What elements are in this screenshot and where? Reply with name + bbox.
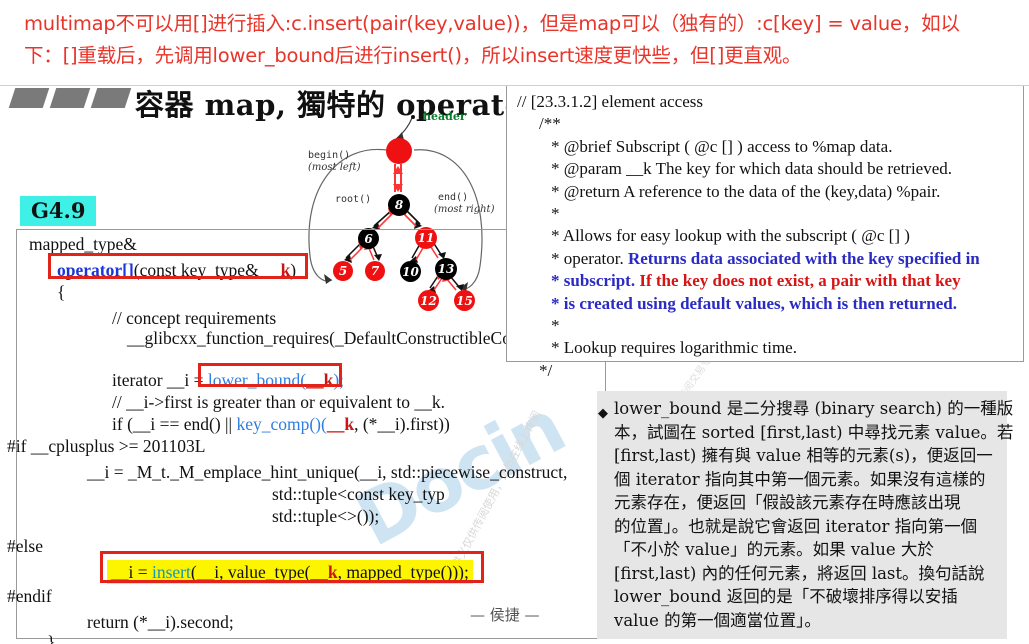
code-directive-if: #if __cplusplus >= 201103L — [7, 436, 205, 456]
tree-label-end: end() — [438, 192, 468, 203]
code-line-mapped-type: mapped_type& — [29, 234, 137, 254]
note-line-5: 元素存在，便返回「假設該元素存在時應該出現 — [614, 491, 999, 515]
highlight-box-operator — [48, 253, 308, 279]
code-brace-close: } — [47, 632, 55, 644]
doc-line-2: /** — [517, 113, 1017, 135]
code-comment-concept: // concept requirements — [112, 308, 276, 328]
annotation-line-2: 下：[]重载后，先调用lower_bound后进行insert()，所以inse… — [24, 40, 1011, 72]
doc-line-blank-1: * — [517, 203, 1017, 225]
doc-line-brief: * @brief Subscript ( @c [] ) access to %… — [517, 136, 1017, 158]
doc-line-end: */ — [517, 360, 1017, 382]
code-glibcxx-requires: __glibcxx_function_requires(_DefaultCons… — [127, 328, 520, 348]
code-tuple-2: std::tuple<>()); — [272, 506, 379, 526]
code-tuple-1: std::tuple<const key_typ — [272, 484, 445, 504]
annotation-banner: multimap不可以用[]进行插入:c.insert(pair(key,val… — [0, 0, 1029, 86]
code-emplace-hint: __i = _M_t._M_emplace_hint_unique(__i, s… — [87, 462, 567, 482]
doc-line-return: * @return A reference to the data of the… — [517, 181, 1017, 203]
note-line-2: 本，試圖在 sorted [first,last) 中尋找元素 value。若 — [614, 421, 999, 445]
note-line-3: [first,last) 擁有與 value 相等的元素(s)，便返回一 — [614, 444, 999, 468]
code-directive-else: #else — [7, 536, 43, 556]
tree-label-begin: begin() — [308, 150, 350, 161]
code-comment-first: // __i->first is greater than or equival… — [112, 392, 445, 412]
if-tail: , (*__i).first)) — [354, 414, 450, 434]
doc-line-allows: * Allows for easy lookup with the subscr… — [517, 225, 1017, 247]
tree-label-begin-sub: (most left) — [308, 162, 360, 173]
tree-label-root: root() — [335, 194, 371, 205]
code-brace-open: { — [57, 282, 65, 302]
decorative-bars — [12, 88, 128, 108]
doxygen-comment-panel: // [23.3.1.2] element access /** * @brie… — [506, 86, 1024, 362]
note-line-7: 「不小於 value」的元素。如果 value 大於 — [614, 538, 999, 562]
doc-line-operator: * operator. Returns data associated with… — [517, 248, 1017, 270]
if-prefix: if (__i == end() || — [112, 414, 236, 434]
tree-label-header: header — [423, 110, 466, 123]
code-return: return (*__i).second; — [87, 612, 234, 632]
doc-operator-highlight: Returns data associated with the key spe… — [628, 249, 980, 268]
code-line-if: if (__i == end() || key_comp()(__k, (*__… — [112, 414, 450, 434]
annotation-line-1: multimap不可以用[]进行插入:c.insert(pair(key,val… — [24, 8, 1011, 40]
doc-line-blank-2: * — [517, 315, 1017, 337]
iterator-decl: iterator __i = — [112, 370, 208, 390]
tree-node-header — [386, 138, 412, 164]
tree-label-end-sub: (most right) — [434, 204, 494, 215]
highlight-box-insert — [100, 551, 484, 583]
bullet-icon: ◆ — [598, 402, 608, 426]
note-line-8: [first,last) 內的任何元素，將返回 last。換句話說 — [614, 562, 999, 586]
note-line-1: lower_bound 是二分搜尋 (binary search) 的一種版 — [614, 397, 999, 421]
doc-operator-label: * operator. — [551, 249, 628, 268]
highlight-box-lower-bound — [198, 363, 342, 387]
doc-line-1: // [23.3.1.2] element access — [517, 91, 1017, 113]
bar-2 — [50, 88, 90, 108]
bar-3 — [91, 88, 131, 108]
tree-node-8: 8 — [388, 194, 410, 216]
key-comp-call: key_comp()( — [236, 414, 326, 434]
doc-line-subscript: * subscript. If the key does not exist, … — [517, 270, 1017, 292]
version-badge: G4.9 — [20, 196, 96, 226]
lower-bound-explanation-note: ◆ lower_bound 是二分搜尋 (binary search) 的一種版… — [597, 391, 1007, 639]
bar-1 — [9, 88, 49, 108]
note-line-4: 個 iterator 指向其中第一個元素。如果沒有這樣的 — [614, 468, 999, 492]
note-line-9: lower_bound 返回的是「不破壞排序得以安插 — [614, 585, 999, 609]
doc-subscript-highlight: If the key does not exist, a pair with t… — [639, 271, 960, 290]
param-k-3: __k — [327, 414, 354, 434]
code-directive-endif: #endif — [7, 586, 52, 606]
doc-line-created: * is created using default values, which… — [517, 293, 1017, 315]
note-line-10: value 的第一個適當位置」。 — [614, 609, 999, 633]
author-signature: — 侯捷 — — [470, 604, 540, 625]
doc-line-param: * @param __k The key for which data shou… — [517, 158, 1017, 180]
note-body: lower_bound 是二分搜尋 (binary search) 的一種版 本… — [605, 397, 999, 632]
doc-line-lookup: * Lookup requires logarithmic time. — [517, 337, 1017, 359]
doc-subscript-label: * subscript. — [551, 271, 639, 290]
slide-canvas: 容器 map, 獨特的 operator[ ] G4.9 — [0, 86, 1029, 644]
note-line-6: 的位置」。也就是說它會返回 iterator 指向第一個 — [614, 515, 999, 539]
